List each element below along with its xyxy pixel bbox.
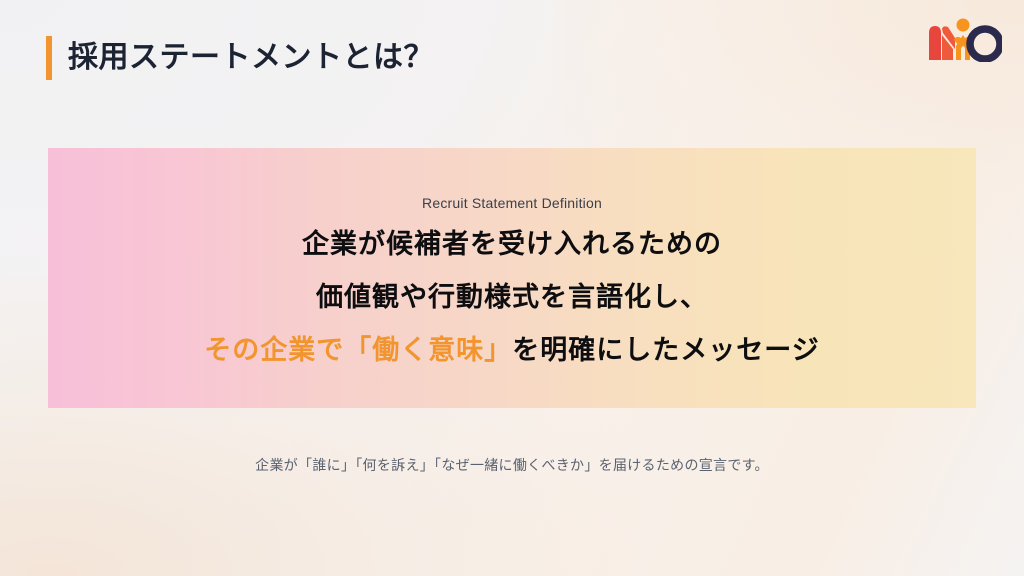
definition-line-3: その企業で「働く意味」を明確にしたメッセージ [204, 337, 819, 364]
nyo-logo [926, 18, 1002, 62]
definition-line-1: 企業が候補者を受け入れるための [302, 231, 722, 258]
card-eyebrow: Recruit Statement Definition [422, 195, 602, 211]
page-title: 採用ステートメントとは？ [68, 43, 434, 73]
definition-card: Recruit Statement Definition 企業が候補者を受け入れ… [48, 148, 976, 408]
title-accent-bar [46, 36, 52, 80]
slide-stage: 採用ステートメントとは？ Recruit Statement Definitio… [0, 0, 1024, 576]
definition-line-2: 価値観や行動様式を言語化し、 [316, 284, 708, 311]
slide-header: 採用ステートメントとは？ [46, 36, 434, 80]
definition-highlight: その企業で「働く意味」 [204, 335, 512, 365]
definition-line-3-rest: を明確にしたメッセージ [512, 335, 819, 365]
slide-caption: 企業が「誰に」「何を訴え」「なぜ一緒に働くべきか」を届けるための宣言です。 [0, 455, 1024, 475]
